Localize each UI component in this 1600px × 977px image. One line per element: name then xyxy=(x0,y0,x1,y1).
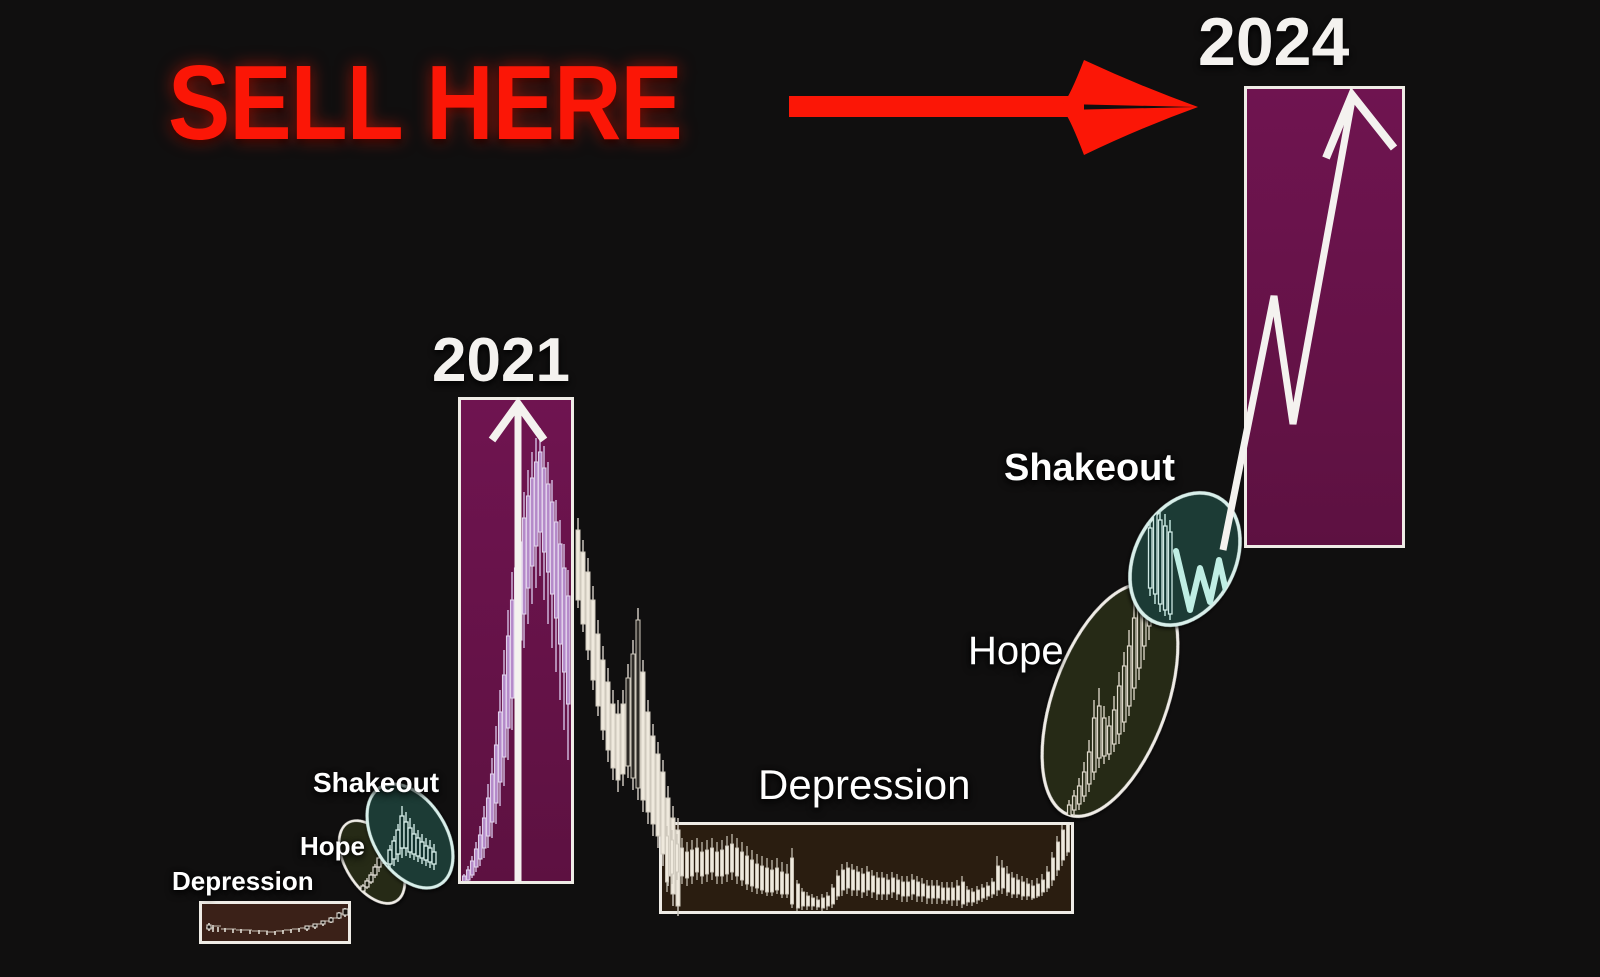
bull-top-box-2021 xyxy=(458,397,574,884)
depression-label-cycle1: Depression xyxy=(172,868,314,894)
depression-label-cycle2: Depression xyxy=(758,764,970,806)
infographic-canvas: SELL HERE 2021 2024 Depression Hope Shak… xyxy=(0,0,1600,977)
depression-box-cycle2 xyxy=(659,822,1074,914)
bull-top-box-2024 xyxy=(1244,86,1405,548)
shakeout-candles-cycle2 xyxy=(1149,500,1229,620)
year-label-2024: 2024 xyxy=(1198,8,1349,76)
shakeout-ellipse-cycle2 xyxy=(1108,474,1262,645)
sell-here-headline: SELL HERE xyxy=(168,50,682,156)
hope-label-cycle2: Hope xyxy=(968,631,1064,671)
shakeout-label-cycle1: Shakeout xyxy=(313,769,439,797)
depression-box-cycle1 xyxy=(199,901,351,944)
hope-ellipse-cycle1 xyxy=(326,809,419,915)
sell-here-arrow-icon xyxy=(789,60,1198,155)
hope-label-cycle1: Hope xyxy=(300,833,365,859)
year-label-2021: 2021 xyxy=(432,330,570,392)
shakeout-label-cycle2: Shakeout xyxy=(1004,449,1175,487)
